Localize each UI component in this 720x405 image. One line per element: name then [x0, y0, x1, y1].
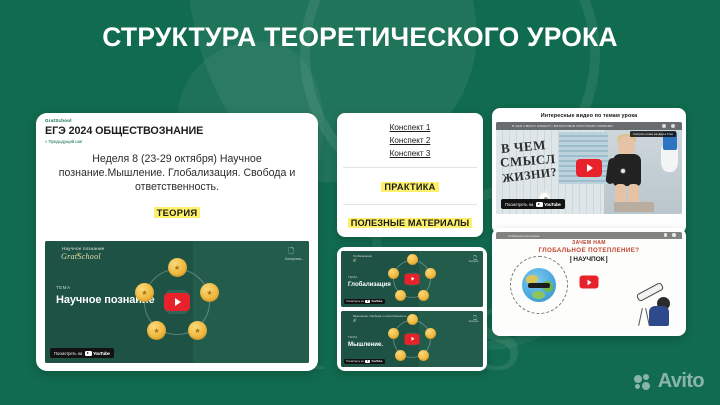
video-topbar: В ЧЕМ СМЫСЛ ЖИЗНИ? | ФИЛОСОФИЯ ПРОСТЫМИ … — [496, 122, 682, 130]
coin-badge-icon — [425, 328, 436, 339]
watch-later-icon[interactable] — [662, 124, 666, 128]
coin-badge-icon: ★ — [168, 258, 187, 277]
earth-icon — [522, 268, 556, 302]
coin-badge-icon — [388, 328, 399, 339]
mini-tema-label: ТЕМА — [348, 335, 358, 339]
channel-logo-label: НАУЧПОК — [570, 256, 607, 263]
youtube-logo-icon: YouTube — [85, 351, 110, 356]
mini-logo: ♕ — [352, 258, 356, 264]
previous-step-link[interactable]: « Предыдущий шаг — [45, 139, 309, 144]
avito-label: Avito — [658, 370, 704, 393]
watch-later-tooltip: Смотреть позже как Дарья Глэм — [630, 131, 676, 137]
mini-videos-card: Глобализация ♕ ТЕМА Глобализация 🗋 Копир… — [337, 247, 487, 371]
coin-badge-icon: ★ — [135, 283, 154, 302]
coin-badge-icon: ★ — [188, 321, 207, 340]
watch-label: Посмотреть на — [505, 202, 533, 207]
coin-badge-icon: ★ — [147, 321, 166, 340]
youtube-logo-icon — [365, 300, 369, 303]
youtube-label: YouTube — [371, 300, 382, 303]
player-tema-label: ТЕМА — [56, 285, 71, 290]
youtube-logo-icon — [365, 360, 369, 363]
theory-section: ТЕОРИЯ — [36, 203, 318, 221]
video-topbar-actions[interactable] — [662, 124, 675, 128]
player-logo: GratSchool — [61, 252, 101, 261]
mini-video-player[interactable]: Мышление. Свобода и ответственность ♕ ТЕ… — [341, 311, 483, 367]
watch-on-youtube-button[interactable]: Посмотреть на YouTube — [344, 299, 385, 304]
watch-on-youtube-button[interactable]: Посмотреть на YouTube — [344, 359, 385, 364]
coin-badge-icon — [395, 290, 406, 301]
practice-label: ПРАКТИКА — [381, 182, 438, 192]
interesting-videos-card: Интересные видео по темам урока В ЧЕМ СМ… — [492, 108, 686, 234]
video-card-global-warming: ЗАЧЕМ НАМ ГЛОБАЛЬНОЕ ПОТЕПЛЕНИЕ? НАУЧПОК… — [492, 228, 686, 336]
brand-label: GratSchool — [45, 118, 309, 123]
watch-on-youtube-button[interactable]: Посмотреть на YouTube — [50, 348, 114, 358]
coin-badge-icon: ★ — [200, 283, 219, 302]
videos-panel-heading: Интересные видео по темам урока — [496, 112, 682, 122]
youtube-label: YouTube — [544, 202, 561, 207]
mini-video-title: Глобализация — [348, 281, 391, 288]
lesson-description: Неделя 8 (23-29 октября) Научное познани… — [36, 148, 318, 194]
coin-badge-icon — [425, 268, 436, 279]
lesson-card: GratSchool ЕГЭ 2024 ОБЩЕСТВОЗНАНИЕ « Пре… — [36, 113, 318, 371]
video-topbar-title: В ЧЕМ СМЫСЛ ЖИЗНИ? | ФИЛОСОФИЯ ПРОСТЫМИ … — [496, 122, 682, 128]
video-topbar-actions[interactable] — [664, 233, 676, 237]
course-title: ЕГЭ 2024 ОБЩЕСТВОЗНАНИЕ — [45, 125, 309, 137]
lesson-video-player[interactable]: Научное познание ♕ GratSchool ТЕМА Научн… — [45, 241, 309, 363]
youtube-play-button[interactable] — [164, 293, 190, 311]
coin-badge-icon — [407, 314, 418, 325]
slide-content: GratSchool ЕГЭ 2024 ОБЩЕСТВОЗНАНИЕ « Пре… — [0, 0, 720, 405]
reference-section[interactable]: СПРАВОЧНИК — [337, 233, 483, 237]
share-icon[interactable] — [672, 233, 676, 237]
thumb-text-line-2: ГЛОБАЛЬНОЕ ПОТЕПЛЕНИЕ? — [496, 247, 682, 254]
avito-logo-icon — [634, 374, 654, 390]
thumb-seat — [614, 202, 654, 212]
konspekt-link-1[interactable]: Конспект 1 — [337, 121, 483, 134]
konspekt-link-3[interactable]: Конспект 3 — [337, 147, 483, 160]
youtube-logo-icon: YouTube — [536, 202, 561, 207]
useful-materials-label: ПОЛЕЗНЫЕ МАТЕРИАЛЫ — [348, 218, 472, 228]
coin-badge-icon — [418, 350, 429, 361]
watch-label: Посмотреть на — [346, 360, 363, 363]
mini-tema-label: ТЕМА — [348, 275, 358, 279]
thumb-text-line-1: ЗАЧЕМ НАМ — [496, 240, 682, 246]
video-thumbnail-meaning-of-life[interactable]: В ЧЕМ СМЫСЛ ЖИЗНИ? В ЧЕМ СМЫСЛ ЖИЗНИ? | … — [496, 122, 682, 214]
video-thumbnail-global-warming[interactable]: ЗАЧЕМ НАМ ГЛОБАЛЬНОЕ ПОТЕПЛЕНИЕ? НАУЧПОК… — [496, 232, 682, 332]
coin-badge-icon — [388, 268, 399, 279]
avito-watermark: Avito — [634, 370, 704, 393]
theory-label: ТЕОРИЯ — [154, 207, 201, 218]
mini-video-title: Мышление. — [348, 341, 383, 348]
coin-badge-icon — [418, 290, 429, 301]
youtube-play-button[interactable] — [580, 276, 599, 289]
page-title: СТРУКТУРА ТЕОРЕТИЧЕСКОГО УРОКА — [60, 22, 660, 53]
youtube-play-button[interactable] — [576, 159, 602, 177]
practice-section[interactable]: ПРАКТИКА — [337, 168, 483, 204]
wristwatch-icon — [620, 168, 626, 174]
copy-label: Копиров... — [469, 260, 480, 263]
video-topbar-title: Глобальное потепление — [496, 232, 682, 238]
konspekt-links-group: Конспект 1 Конспект 2 Конспект 3 — [337, 113, 483, 167]
navigation-card: Конспект 1 Конспект 2 Конспект 3 ПРАКТИК… — [337, 113, 483, 237]
coin-badge-icon — [395, 350, 406, 361]
copy-label: Копиров... — [469, 320, 480, 323]
astronomer-illustration — [638, 288, 670, 326]
watch-later-icon[interactable] — [664, 233, 668, 237]
youtube-label: YouTube — [371, 360, 382, 363]
video-topbar: Глобальное потепление — [496, 232, 682, 239]
copy-label: Копирова... — [285, 257, 304, 261]
useful-materials-section[interactable]: ПОЛЕЗНЫЕ МАТЕРИАЛЫ — [337, 205, 483, 233]
thumb-person-illustration — [606, 136, 648, 210]
watch-on-youtube-button[interactable]: Посмотреть на YouTube — [501, 199, 565, 209]
youtube-play-button[interactable] — [405, 334, 420, 345]
konspekt-link-2[interactable]: Конспект 2 — [337, 134, 483, 147]
youtube-label: YouTube — [93, 351, 110, 356]
coin-badge-icon — [407, 254, 418, 265]
lesson-card-header: GratSchool ЕГЭ 2024 ОБЩЕСТВОЗНАНИЕ « Пре… — [36, 113, 318, 148]
mini-video-player[interactable]: Глобализация ♕ ТЕМА Глобализация 🗋 Копир… — [341, 251, 483, 307]
youtube-play-button[interactable] — [405, 274, 420, 285]
share-icon[interactable] — [671, 124, 675, 128]
watch-label: Посмотреть на — [54, 351, 82, 356]
player-logo-caption: Научное познание — [62, 246, 104, 251]
mini-logo: ♕ — [352, 318, 356, 324]
watch-label: Посмотреть на — [346, 300, 363, 303]
